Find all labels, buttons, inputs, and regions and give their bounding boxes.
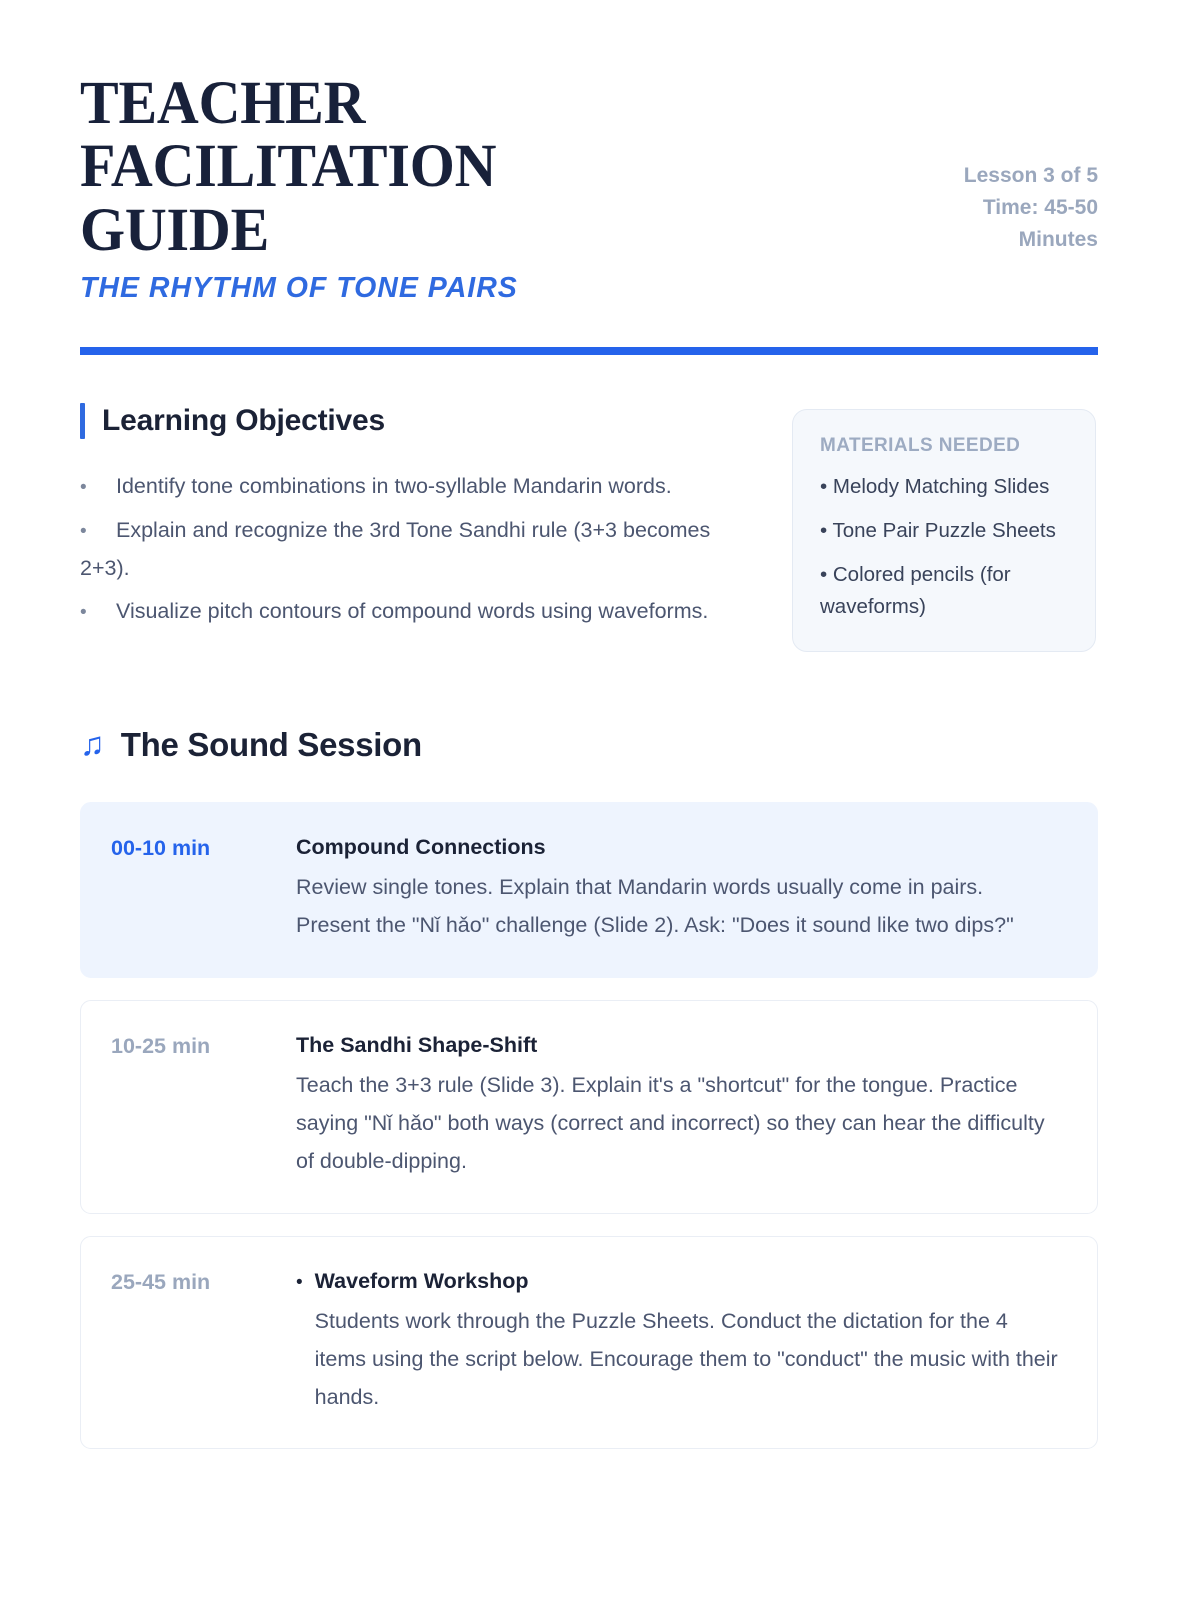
list-item: •Visualize pitch contours of compound wo… [80, 592, 760, 630]
timeline-title: Compound Connections [296, 833, 1063, 862]
document-page: TEACHER FACILITATION GUIDE THE RHYTHM OF… [0, 0, 1200, 1600]
materials-needed-card: MATERIALS NEEDED • Melody Matching Slide… [792, 409, 1096, 652]
timeline-row[interactable]: 10-25 min The Sandhi Shape-Shift Teach t… [80, 1000, 1098, 1214]
timeline-time: 25-45 min [111, 1267, 296, 1297]
objective-text: Identify tone combinations in two-syllab… [116, 474, 672, 498]
header-title-group: TEACHER FACILITATION GUIDE THE RHYTHM OF… [80, 72, 853, 305]
timeline-text: Waveform Workshop Students work through … [315, 1267, 1063, 1417]
bullet-icon: • [80, 515, 116, 549]
document-header: TEACHER FACILITATION GUIDE THE RHYTHM OF… [80, 72, 1098, 305]
timeline-row[interactable]: 25-45 min • Waveform Workshop Students w… [80, 1236, 1098, 1450]
session-timeline: 00-10 min Compound Connections Review si… [80, 802, 1098, 1449]
timeline-content: The Sandhi Shape-Shift Teach the 3+3 rul… [296, 1031, 1063, 1181]
music-note-icon: ♫ [80, 727, 105, 760]
objective-text: Explain and recognize the 3rd Tone Sandh… [80, 518, 710, 580]
learning-objectives-section: Learning Objectives •Identify tone combi… [80, 403, 760, 635]
page-title: TEACHER FACILITATION GUIDE [80, 72, 650, 262]
header-divider [80, 347, 1098, 355]
timeline-time: 00-10 min [111, 833, 296, 863]
objectives-materials-row: Learning Objectives •Identify tone combi… [80, 403, 1098, 652]
materials-card-title: MATERIALS NEEDED [820, 435, 1073, 457]
objectives-list: •Identify tone combinations in two-sylla… [80, 467, 760, 630]
timeline-description: Students work through the Puzzle Sheets.… [315, 1302, 1063, 1417]
list-item: • Tone Pair Puzzle Sheets [820, 515, 1073, 547]
timeline-content: • Waveform Workshop Students work throug… [296, 1267, 1063, 1417]
lesson-time-unit: Minutes [883, 224, 1098, 256]
timeline-content: Compound Connections Review single tones… [296, 833, 1063, 945]
objective-text: Visualize pitch contours of compound wor… [116, 599, 708, 623]
lesson-time: Time: 45-50 [883, 192, 1098, 224]
sound-session-heading-row: ♫ The Sound Session [80, 726, 1098, 764]
timeline-description: Review single tones. Explain that Mandar… [296, 868, 1063, 945]
timeline-title: Waveform Workshop [315, 1267, 1063, 1296]
bullet-icon: • [80, 596, 116, 630]
list-item: • Melody Matching Slides [820, 471, 1073, 503]
bullet-icon: • [296, 1267, 303, 1417]
list-item: •Identify tone combinations in two-sylla… [80, 467, 760, 505]
timeline-text: Compound Connections Review single tones… [296, 833, 1063, 945]
lesson-counter: Lesson 3 of 5 [883, 160, 1098, 192]
timeline-row[interactable]: 00-10 min Compound Connections Review si… [80, 802, 1098, 978]
objectives-heading-row: Learning Objectives [80, 403, 760, 439]
bullet-icon: • [80, 471, 116, 505]
objectives-heading: Learning Objectives [102, 404, 385, 438]
sound-session-heading: The Sound Session [121, 726, 422, 764]
timeline-time: 10-25 min [111, 1031, 296, 1061]
materials-list: • Melody Matching Slides • Tone Pair Puz… [820, 471, 1073, 623]
timeline-title: The Sandhi Shape-Shift [296, 1031, 1063, 1060]
header-meta: Lesson 3 of 5 Time: 45-50 Minutes [883, 72, 1098, 256]
accent-bar-icon [80, 403, 85, 439]
timeline-description: Teach the 3+3 rule (Slide 3). Explain it… [296, 1066, 1063, 1181]
timeline-text: The Sandhi Shape-Shift Teach the 3+3 rul… [296, 1031, 1063, 1181]
list-item: •Explain and recognize the 3rd Tone Sand… [80, 511, 760, 588]
page-subtitle: THE RHYTHM OF TONE PAIRS [80, 272, 853, 305]
list-item: • Colored pencils (for waveforms) [820, 559, 1073, 623]
